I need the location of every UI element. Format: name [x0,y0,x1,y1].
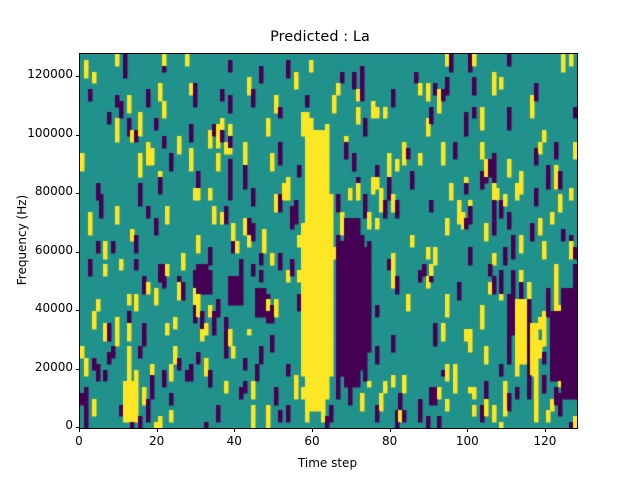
y-tick-mark [76,369,80,370]
x-tick-mark [157,428,158,432]
x-tick-label: 60 [304,434,319,448]
x-tick-label: 40 [227,434,242,448]
x-tick-mark [467,428,468,432]
x-tick-label: 120 [533,434,556,448]
y-axis-label: Frequency (Hz) [14,53,30,427]
matplotlib-figure: Predicted : La 020406080100120 020000400… [0,0,640,480]
y-tick-mark [76,310,80,311]
x-tick-mark [312,428,313,432]
x-tick-mark [390,428,391,432]
x-axis-label: Time step [79,456,576,470]
y-tick-mark [76,135,80,136]
heatmap-canvas [80,54,577,428]
x-tick-label: 0 [75,434,83,448]
x-tick-label: 20 [149,434,164,448]
page-title: Predicted : La [0,29,640,45]
y-tick-mark [76,193,80,194]
x-tick-label: 80 [382,434,397,448]
x-tick-mark [545,428,546,432]
y-tick-mark [76,427,80,428]
y-tick-mark [76,76,80,77]
y-tick-mark [76,252,80,253]
heatmap-axes [79,53,578,429]
x-tick-mark [234,428,235,432]
x-tick-mark [79,428,80,432]
x-tick-label: 100 [456,434,479,448]
